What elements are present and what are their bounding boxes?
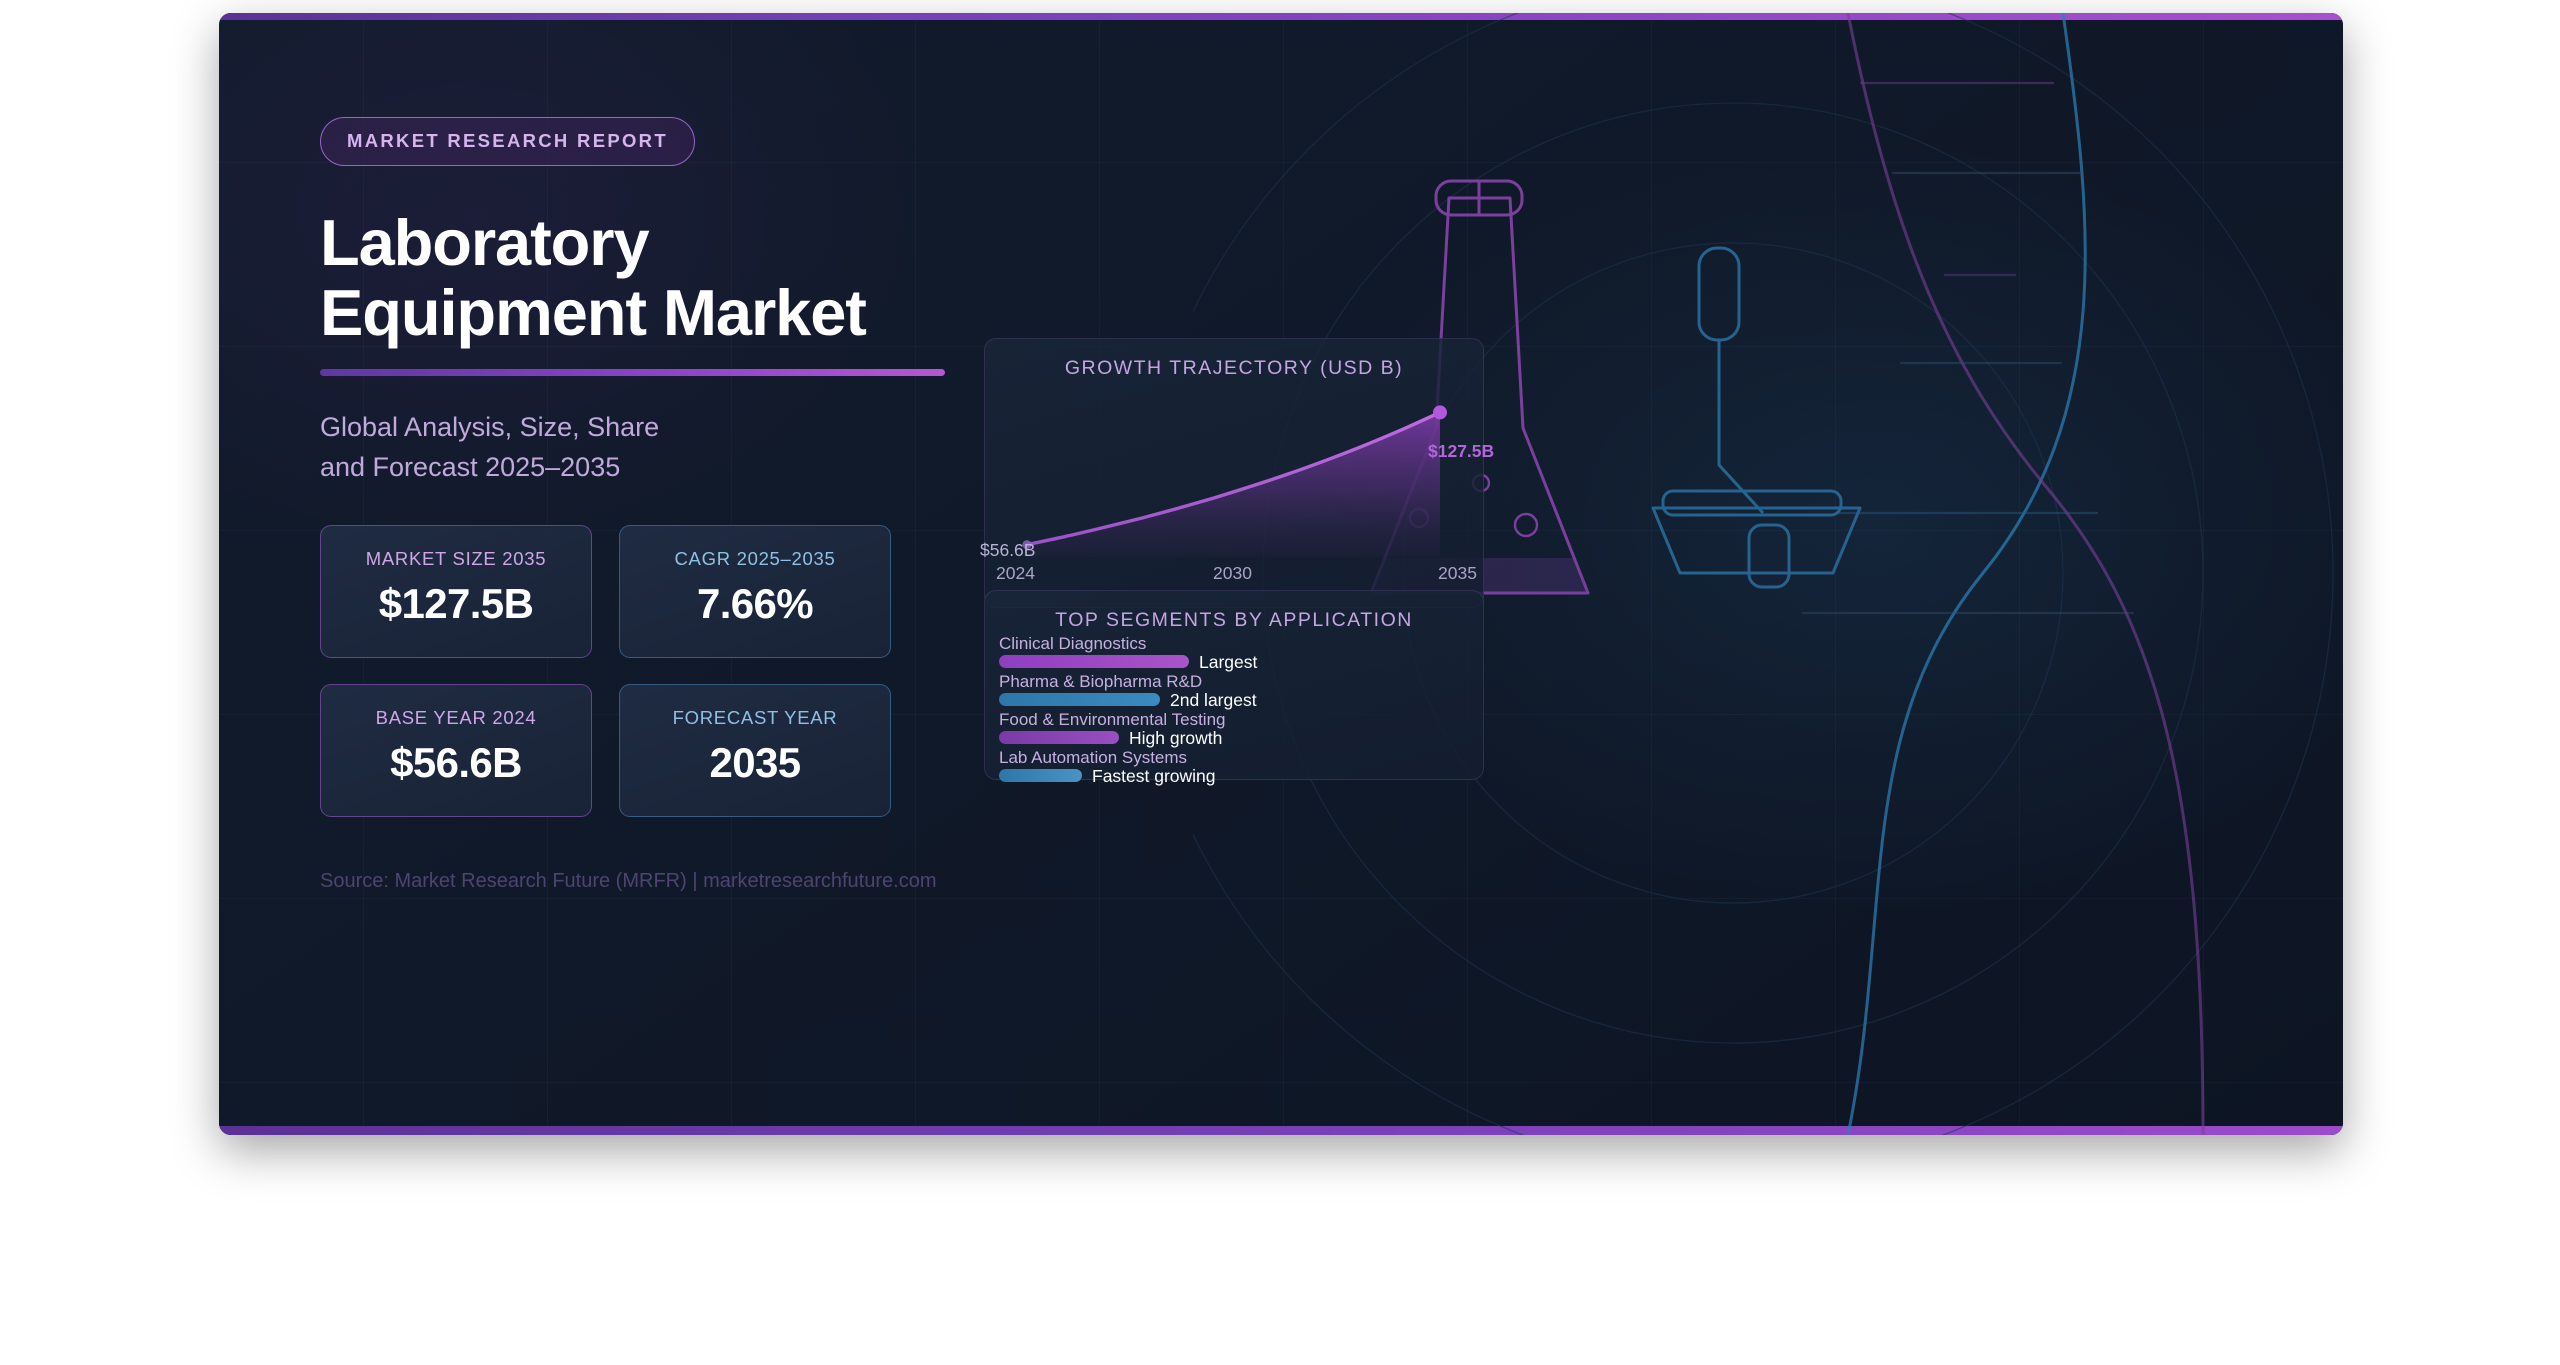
chart-xtick: 2030 [1213,563,1252,584]
segment-row: Pharma & Biopharma R&D2nd largest [999,672,1469,710]
segment-bar-track: 2nd largest [999,691,1469,709]
segment-name: Food & Environmental Testing [999,710,1469,730]
segment-bar-track: Largest [999,653,1469,671]
stat-card: FORECAST YEAR 2035 [619,684,891,817]
top-segments-title: TOP SEGMENTS BY APPLICATION [985,591,1483,632]
page-title-line-2: Equipment Market [320,276,866,349]
chart-end-value-label: $127.5B [1428,441,1494,462]
chart-start-value-label: $56.6B [980,540,1035,561]
hero-left-column: MARKET RESEARCH REPORT Laboratory Equipm… [320,13,1040,893]
growth-chart-plot: $56.6B $127.5B 2024 2030 2035 [985,379,1485,609]
stat-card-label: CAGR 2025–2035 [630,548,880,570]
report-badge: MARKET RESEARCH REPORT [320,117,695,166]
page-title-line-1: Laboratory [320,206,649,279]
segment-bar-fill [999,655,1189,668]
stat-card-label: FORECAST YEAR [630,707,880,729]
stat-card: MARKET SIZE 2035 $127.5B [320,525,592,658]
segment-row: Clinical DiagnosticsLargest [999,634,1469,672]
stat-card-value: 7.66% [630,580,880,628]
segment-tag: Largest [1199,652,1257,673]
segment-bar-fill [999,693,1160,706]
stat-card-grid: MARKET SIZE 2035 $127.5B CAGR 2025–2035 … [320,525,895,817]
segment-name: Lab Automation Systems [999,748,1469,768]
growth-chart-title: GROWTH TRAJECTORY (USD B) [985,339,1483,380]
segment-bar-fill [999,769,1082,782]
segment-tag: Fastest growing [1092,766,1216,787]
stat-card-label: MARKET SIZE 2035 [331,548,581,570]
segment-row: Food & Environmental TestingHigh growth [999,710,1469,748]
stat-card-value: 2035 [630,739,880,787]
report-hero-card: MARKET RESEARCH REPORT Laboratory Equipm… [219,13,2343,1135]
segment-tag: 2nd largest [1170,690,1257,711]
chart-xtick: 2035 [1438,563,1477,584]
segment-row: Lab Automation SystemsFastest growing [999,748,1469,786]
stat-card-label: BASE YEAR 2024 [331,707,581,729]
subtitle-line-2: and Forecast 2025–2035 [320,452,620,482]
stat-card: CAGR 2025–2035 7.66% [619,525,891,658]
stat-card: BASE YEAR 2024 $56.6B [320,684,592,817]
page-title: Laboratory Equipment Market [320,208,1040,347]
screenshot-root: MARKET RESEARCH REPORT Laboratory Equipm… [0,0,2560,1365]
subtitle-line-1: Global Analysis, Size, Share [320,412,659,442]
segment-name: Clinical Diagnostics [999,634,1469,654]
top-segments-panel: TOP SEGMENTS BY APPLICATION Clinical Dia… [984,590,1484,780]
segment-bar-track: High growth [999,729,1469,747]
segment-name: Pharma & Biopharma R&D [999,672,1469,692]
page-subtitle: Global Analysis, Size, Share and Forecas… [320,408,1040,487]
growth-chart-panel: GROWTH TRAJECTORY (USD B) [984,338,1484,608]
accent-bar-bottom [219,1126,2343,1135]
title-underline [320,369,945,376]
source-attribution: Source: Market Research Future (MRFR) | … [320,870,1040,893]
segment-bar-track: Fastest growing [999,767,1469,785]
stat-card-value: $127.5B [331,580,581,628]
chart-xtick: 2024 [996,563,1035,584]
segment-bar-fill [999,731,1119,744]
segment-list: Clinical DiagnosticsLargestPharma & Biop… [999,634,1469,786]
segment-tag: High growth [1129,728,1222,749]
stat-card-value: $56.6B [331,739,581,787]
